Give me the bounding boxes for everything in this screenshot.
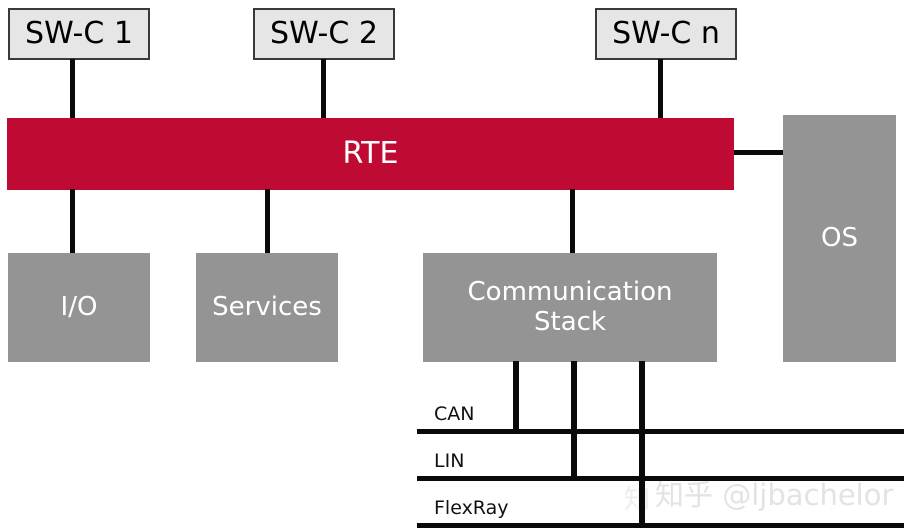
swc-box-2: SW-C 2	[253, 8, 395, 60]
swc-box-1: SW-C 1	[8, 8, 150, 60]
connector-rte-to-services	[265, 189, 270, 255]
swc-box-2-label: SW-C 2	[270, 17, 378, 52]
bsw-block-io-label: I/O	[61, 293, 98, 323]
bsw-block-io: I/O	[8, 253, 150, 362]
swc-box-1-label: SW-C 1	[25, 17, 133, 52]
swc-box-n-label: SW-C n	[612, 17, 720, 52]
bus-line-lin	[417, 476, 904, 481]
bsw-block-os: OS	[783, 115, 896, 362]
watermark-mark-text: 知	[624, 485, 650, 515]
connector-rte-to-io	[70, 189, 75, 255]
connector-swc1-to-rte	[70, 59, 75, 121]
swc-box-n: SW-C n	[595, 8, 737, 60]
bus-label-lin: LIN	[434, 450, 464, 472]
bus-line-flexray	[417, 523, 904, 528]
connector-swc2-to-rte	[321, 59, 326, 121]
connector-rte-to-os	[734, 150, 784, 155]
watermark-text: 知乎 @ljbachelor	[655, 478, 893, 512]
rte-label: RTE	[343, 137, 399, 172]
bus-drop-flexray	[639, 361, 645, 528]
connector-swcn-to-rte	[658, 59, 663, 121]
bsw-block-communication-stack-label-line2: Stack	[534, 308, 606, 338]
bus-label-lin-text: LIN	[434, 450, 464, 472]
connector-rte-to-communication-stack	[570, 189, 575, 255]
bus-label-flexray: FlexRay	[434, 497, 508, 519]
bsw-block-communication-stack: Communication Stack	[423, 253, 717, 362]
rte-bar: RTE	[7, 118, 734, 190]
bsw-block-communication-stack-label-line1: Communication	[468, 278, 673, 308]
bus-drop-lin	[571, 361, 577, 481]
bus-label-can: CAN	[434, 403, 474, 425]
bsw-block-os-label: OS	[821, 224, 858, 254]
watermark-mark: 知	[624, 479, 650, 516]
bus-label-flexray-text: FlexRay	[434, 497, 508, 519]
autosar-architecture-diagram: SW-C 1 SW-C 2 SW-C n RTE I/O Services Co…	[0, 0, 904, 531]
bus-label-can-text: CAN	[434, 403, 474, 425]
bus-line-can	[417, 429, 904, 434]
bsw-block-services-label: Services	[212, 293, 322, 323]
bus-drop-can	[513, 361, 519, 434]
bsw-block-services: Services	[196, 253, 338, 362]
